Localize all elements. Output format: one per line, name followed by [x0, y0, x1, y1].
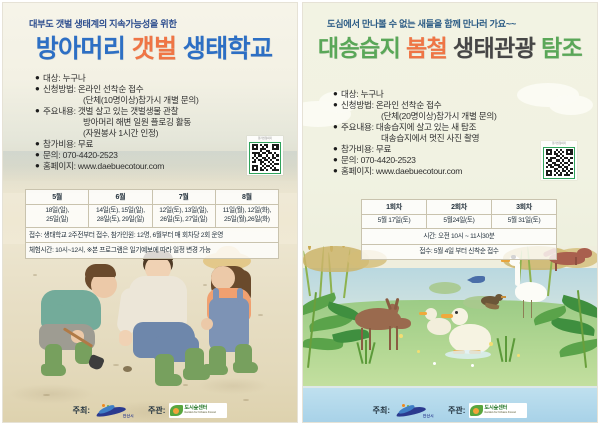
weasel-head — [577, 248, 592, 258]
left-schedule-table: 5월 6월 7월 8월 18일(일), 25일(일) 14일(토), 15일(일… — [25, 189, 279, 259]
right-info-list: ●대상: 누구나 ●신청방법: 온라인 선착순 접수 (단체(20명이상)참가시… — [333, 89, 569, 177]
list-item: ●문의: 070-4420-2523 — [333, 155, 569, 166]
ansan-logo-text: 안산시 — [123, 414, 134, 419]
table-column-header: 2회차 — [427, 200, 492, 214]
list-item-sub: (단체(20명이상)참가시 개별 문의) — [333, 111, 569, 122]
table-cell-date: 5월 31일(토) — [492, 215, 556, 228]
organizer-label: 주관: — [448, 405, 465, 416]
bullet-dot-icon: ● — [35, 161, 43, 172]
bullet-dot-icon: ● — [333, 155, 341, 166]
table-cell-date: 5월24일(토) — [427, 215, 492, 228]
table-cell-dates: 12일(토), 13일(일), 26일(토), 27일(일) — [153, 205, 216, 227]
list-item-text: 주요내용: 갯벌 살고 있는 갯벌생물 관찰 — [43, 106, 271, 117]
table-cell-date: 5월 17일(토) — [362, 215, 427, 228]
table-column-header: 3회차 — [492, 200, 556, 214]
right-footer: 주최: 안산시 주관: 도시숲센터 Garden for Urbans Fore… — [303, 403, 597, 418]
table-column-header: 1회차 — [362, 200, 427, 214]
bullet-dot-icon: ● — [333, 100, 341, 111]
bullet-dot-icon: ● — [333, 144, 341, 155]
fish-icon — [471, 276, 485, 283]
table-header-row: 5월 6월 7월 8월 — [26, 190, 278, 205]
list-item: ●참가비용: 무료 — [333, 144, 569, 155]
table-column-header: 6월 — [89, 190, 152, 204]
bullet-dot-icon: ● — [35, 150, 43, 161]
organizer-block: 주관: 도시숲센터 Garden for Urbans Forest — [448, 403, 527, 418]
list-item: ●신청방법: 온라인 선착순 접수 — [35, 84, 271, 95]
title-part-1: 대송습지 — [318, 35, 400, 61]
forest-logo-subtext: Garden for Urbans Forest — [484, 412, 516, 415]
table-note-row: 시간: 오전 10시 ~ 11시30분 — [362, 229, 556, 244]
bullet-dot-icon: ● — [35, 73, 43, 84]
table-cell-dates: 11일(월), 12일(화), 25일(월),26일(화) — [216, 205, 278, 227]
ansan-logo-text: 안산시 — [423, 414, 434, 419]
host-label: 주최: — [373, 405, 390, 416]
list-item-text: 홈페이지: www.daebuecotour.com — [43, 161, 271, 172]
list-item: ●문의: 070-4420-2523 — [35, 150, 271, 161]
duckling-bill-icon — [419, 312, 427, 315]
poster-wetland-birdwatching: 도심에서 만나볼 수 없는 새들을 함께 만나러 가요~~ 대송습지 봄철 생태… — [302, 2, 598, 423]
bullet-dot-icon: ● — [35, 84, 43, 95]
table-row: 18일(일), 25일(일) 14일(토), 15일(일), 28일(토), 2… — [26, 205, 278, 228]
organizer-block: 주관: 도시숲센터 Garden for Urbans Forest — [148, 403, 227, 418]
poster-pair-canvas: 대부도 갯벌 생태계의 지속가능성을 위한 방아머리 갯벌 생태학교 ●대상: … — [0, 0, 600, 425]
table-note-registration: 접수: 생태학교 2주전부터 접수, 참가인원: 12명, 6월부터 매 회차당… — [26, 228, 278, 242]
table-column-header: 7월 — [153, 190, 216, 204]
table-row: 5월 17일(토) 5월24일(토) 5월 31일(토) — [362, 215, 556, 229]
ansan-city-logo-icon: 안산시 — [394, 404, 434, 418]
table-column-header: 5월 — [26, 190, 89, 204]
list-item: ●주요내용: 대송습지에 살고 있는 새 탐조 — [333, 122, 569, 133]
qr-caption: 참가신청하기 — [249, 138, 281, 141]
qr-modules — [546, 149, 573, 176]
bullet-dot-icon: ● — [35, 139, 43, 150]
qr-image — [543, 147, 575, 179]
title-part-3: 생태관광 — [453, 35, 535, 61]
urban-forest-center-logo-icon: 도시숲센터 Garden for Urbans Forest — [169, 403, 227, 418]
title-part-2: 봄철 — [406, 35, 447, 61]
urban-forest-center-logo-icon: 도시숲센터 Garden for Urbans Forest — [469, 403, 527, 418]
list-item-sub: 방아머리 해변 일원 플로깅 활동 (자원봉사 1시간 인정) — [35, 117, 271, 139]
forest-logo-subtext: Garden for Urbans Forest — [184, 412, 216, 415]
list-item-sub: 대송습지에서 멋진 사진 촬영 — [333, 133, 569, 144]
list-item: ●주요내용: 갯벌 살고 있는 갯벌생물 관찰 — [35, 106, 271, 117]
table-note-time: 체험시간: 10시~12시, ※본 프로그램은 일기예보에 따라 일정 변경 가… — [26, 243, 278, 257]
table-column-header: 8월 — [216, 190, 278, 204]
list-item: ●참가비용: 무료 — [35, 139, 271, 150]
bullet-dot-icon: ● — [333, 89, 341, 100]
title-part-1: 방아머리 — [36, 35, 126, 63]
list-item-text: 대상: 누구나 — [341, 89, 569, 100]
list-item-text: 참가비용: 무료 — [43, 139, 271, 150]
qr-modules — [252, 144, 279, 171]
left-kicker-text: 대부도 갯벌 생태계의 지속가능성을 위한 — [29, 16, 177, 30]
title-part-4: 탐조 — [541, 35, 582, 61]
list-item-text: 문의: 070-4420-2523 — [341, 155, 569, 166]
table-note-row: 체험시간: 10시~12시, ※본 프로그램은 일기예보에 따라 일정 변경 가… — [26, 243, 278, 257]
bullet-dot-icon: ● — [333, 166, 341, 177]
table-header-row: 1회차 2회차 3회차 — [362, 200, 556, 215]
left-qr-code[interactable]: 참가신청하기 — [247, 136, 283, 175]
list-item: ●신청방법: 온라인 선착순 접수 — [333, 100, 569, 111]
title-part-3: 생태학교 — [183, 35, 273, 63]
right-kicker-text: 도심에서 만나볼 수 없는 새들을 함께 만나러 가요~~ — [327, 16, 516, 30]
qr-image — [249, 142, 281, 174]
host-label: 주최: — [73, 405, 90, 416]
left-footer: 주최: 안산시 주관: 도시숲센터 Garden for Urbans Fore… — [3, 403, 297, 418]
list-item-text: 문의: 070-4420-2523 — [43, 150, 271, 161]
list-item: ●홈페이지: www.daebuecotour.com — [35, 161, 271, 172]
bullet-dot-icon: ● — [35, 106, 43, 117]
list-item-text: 주요내용: 대송습지에 살고 있는 새 탐조 — [341, 122, 569, 133]
bullet-dot-icon: ● — [333, 122, 341, 133]
illustration-wetland — [303, 246, 597, 422]
table-note-time: 시간: 오전 10시 ~ 11시30분 — [362, 229, 556, 243]
right-poster-title: 대송습지 봄철 생태관광 탐조 — [303, 37, 597, 60]
deer-head — [391, 318, 411, 329]
illustration-mudflat-family — [3, 244, 297, 422]
host-block: 주최: 안산시 — [373, 404, 434, 418]
list-item-sub: (단체(10명이상)참가시 개별 문의) — [35, 95, 271, 106]
list-item-text: 신청방법: 온라인 선착순 접수 — [43, 84, 271, 95]
list-item-text: 홈페이지: www.daebuecotour.com — [341, 166, 569, 177]
list-item: ●대상: 누구나 — [35, 73, 271, 84]
table-cell-dates: 14일(토), 15일(일), 28일(토), 29일(일) — [89, 205, 152, 227]
left-info-list: ●대상: 누구나 ●신청방법: 온라인 선착순 접수 (단체(10명이상)참가시… — [35, 73, 271, 172]
table-note-row: 접수: 5월 4일 부터 신착순 접수 — [362, 245, 556, 259]
table-note-row: 접수: 생태학교 2주전부터 접수, 참가인원: 12명, 6월부터 매 회차당… — [26, 228, 278, 243]
table-note-registration: 접수: 5월 4일 부터 신착순 접수 — [362, 245, 556, 259]
organizer-label: 주관: — [148, 405, 165, 416]
right-qr-code[interactable]: 참가신청하기 — [541, 141, 577, 180]
list-item: ●홈페이지: www.daebuecotour.com — [333, 166, 569, 177]
list-item: ●대상: 누구나 — [333, 89, 569, 100]
list-item-text: 대상: 누구나 — [43, 73, 271, 84]
qr-caption: 참가신청하기 — [543, 143, 575, 146]
list-item-text: 신청방법: 온라인 선착순 접수 — [341, 100, 569, 111]
list-item-text: 참가비용: 무료 — [341, 144, 569, 155]
right-schedule-table: 1회차 2회차 3회차 5월 17일(토) 5월24일(토) 5월 31일(토)… — [361, 199, 557, 260]
table-cell-dates: 18일(일), 25일(일) — [26, 205, 89, 227]
left-poster-title: 방아머리 갯벌 생태학교 — [7, 37, 298, 62]
poster-mudflat-eco-school: 대부도 갯벌 생태계의 지속가능성을 위한 방아머리 갯벌 생태학교 ●대상: … — [2, 2, 298, 423]
host-block: 주최: 안산시 — [73, 404, 134, 418]
duck-head — [451, 308, 468, 325]
title-part-2: 갯벌 — [132, 35, 177, 63]
duckling-body — [427, 318, 451, 335]
ansan-city-logo-icon: 안산시 — [94, 404, 134, 418]
crane-body — [515, 282, 547, 302]
